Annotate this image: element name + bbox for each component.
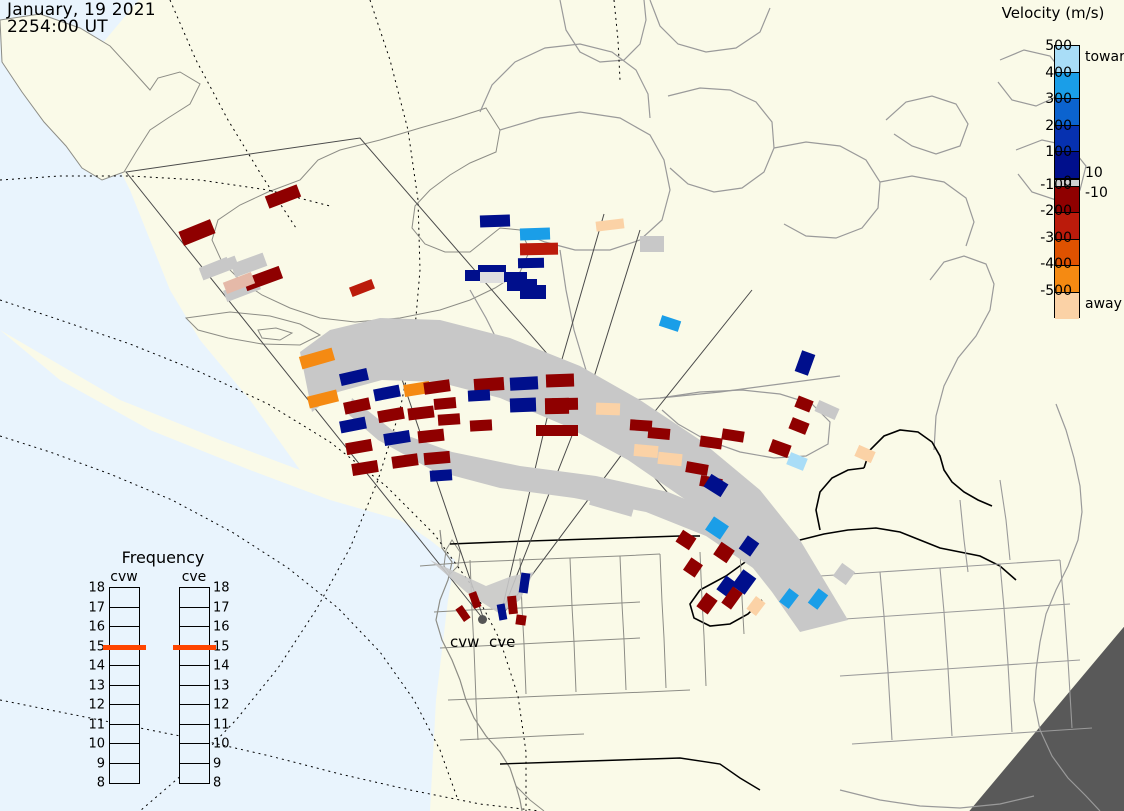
velocity-cell: [520, 227, 550, 240]
colorbar-tick-500: 500: [1045, 38, 1072, 54]
frequency-bar-header-cve: cve: [171, 569, 217, 585]
velocity-cell: [424, 451, 451, 465]
frequency-scale-label-right: 9: [213, 756, 235, 771]
velocity-cell: [556, 425, 578, 436]
colorbar-tick-neg400: -400: [1040, 256, 1072, 272]
frequency-cell: [110, 686, 139, 706]
colorbar-minus10-label: -10: [1085, 185, 1108, 201]
title-time: 2254:00 UT: [7, 17, 108, 37]
frequency-scale-label-right: 11: [213, 717, 235, 732]
frequency-cell: [180, 608, 209, 628]
superdarn-velocity-map: cvw cve January, 19 20212254:00 UT Frequ…: [0, 0, 1124, 811]
frequency-cell: [180, 588, 209, 608]
velocity-cell: [434, 397, 457, 410]
frequency-scale-label-right: 14: [213, 659, 235, 674]
colorbar-away-label: away: [1085, 296, 1122, 312]
velocity-cell: [634, 444, 659, 458]
colorbar-tick-300: 300: [1045, 91, 1072, 107]
frequency-scale-label-right: 17: [213, 600, 235, 615]
frequency-scale-label-right: 8: [213, 776, 235, 791]
colorbar-tick-200: 200: [1045, 118, 1072, 134]
frequency-cell: [110, 666, 139, 686]
colorbar-tick-neg500: -500: [1040, 283, 1072, 299]
frequency-cell: [110, 705, 139, 725]
velocity-cell: [640, 236, 662, 250]
colorbar-tick-neg100: -100: [1040, 177, 1072, 193]
frequency-scale-label-left: 16: [83, 620, 105, 635]
frequency-scale-label-left: 14: [83, 659, 105, 674]
colorbar-toward-label: toward: [1085, 49, 1124, 65]
frequency-cell: [110, 608, 139, 628]
frequency-scale-label-left: 9: [83, 756, 105, 771]
frequency-cell: [180, 705, 209, 725]
frequency-marker-cve: [173, 645, 216, 650]
radar-label-cve: cve: [489, 633, 515, 651]
colorbar-plus10-label: 10: [1085, 165, 1103, 181]
velocity-cell: [510, 376, 539, 390]
radar-site-marker: [478, 615, 487, 624]
frequency-cell: [110, 725, 139, 745]
frequency-cell: [180, 744, 209, 764]
velocity-cell: [438, 413, 461, 426]
ground-scatter-cell: [833, 563, 855, 585]
frequency-scale-label-right: 10: [213, 737, 235, 752]
frequency-scale-label-left: 13: [83, 678, 105, 693]
frequency-cell: [180, 666, 209, 686]
frequency-scale-label-left: 10: [83, 737, 105, 752]
frequency-cell: [180, 686, 209, 706]
velocity-cell: [430, 469, 453, 482]
frequency-scale-label-right: 16: [213, 620, 235, 635]
frequency-scale-label-left: 18: [83, 581, 105, 596]
frequency-cell: [110, 588, 139, 608]
frequency-scale-label-left: 11: [83, 717, 105, 732]
velocity-cell: [507, 596, 518, 615]
frequency-scale-label-left: 17: [83, 600, 105, 615]
frequency-marker-cvw: [103, 645, 146, 650]
velocity-colorbar: Velocity (m/s) 5004003002001000-100-200-…: [975, 0, 1124, 340]
velocity-cell: [480, 214, 510, 227]
velocity-cell: [648, 427, 671, 440]
colorbar-tick-neg300: -300: [1040, 230, 1072, 246]
velocity-cell: [515, 614, 526, 625]
velocity-cell: [536, 425, 558, 436]
radar-label-cvw: cvw: [450, 633, 479, 651]
velocity-cell: [520, 285, 546, 299]
velocity-cell: [546, 374, 574, 388]
velocity-cell: [596, 403, 620, 416]
frequency-legend-title: Frequency: [88, 548, 238, 567]
frequency-cell: [110, 744, 139, 764]
velocity-cell: [520, 243, 558, 256]
frequency-scale-label-left: 8: [83, 776, 105, 791]
timestamp-title: January, 19 20212254:00 UT: [7, 2, 156, 36]
frequency-bar-cvw: [109, 587, 140, 784]
colorbar-tick-neg200: -200: [1040, 203, 1072, 219]
frequency-cell: [110, 764, 139, 784]
frequency-scale-label-right: 12: [213, 698, 235, 713]
velocity-cell: [468, 389, 491, 401]
frequency-scale-label-left: 15: [83, 639, 105, 654]
colorbar-tick-400: 400: [1045, 65, 1072, 81]
frequency-scale-label-right: 15: [213, 639, 235, 654]
velocity-cell: [510, 398, 536, 413]
velocity-cell: [518, 258, 544, 268]
frequency-scale-label-left: 12: [83, 698, 105, 713]
velocity-cell: [657, 452, 682, 466]
frequency-scale-label-right: 13: [213, 678, 235, 693]
colorbar-title: Velocity (m/s): [982, 4, 1124, 22]
frequency-bar-header-cvw: cvw: [101, 569, 147, 585]
colorbar-tick-100: 100: [1045, 144, 1072, 160]
frequency-cell: [180, 725, 209, 745]
frequency-bar-cve: [179, 587, 210, 784]
ground-scatter-cell: [815, 400, 840, 420]
velocity-cell: [480, 272, 504, 283]
velocity-cell: [470, 419, 493, 431]
velocity-cell: [545, 398, 569, 414]
frequency-scale-label-right: 18: [213, 581, 235, 596]
frequency-cell: [180, 764, 209, 784]
frequency-legend: Frequency cvw cve 1818171716161515141413…: [88, 548, 238, 788]
